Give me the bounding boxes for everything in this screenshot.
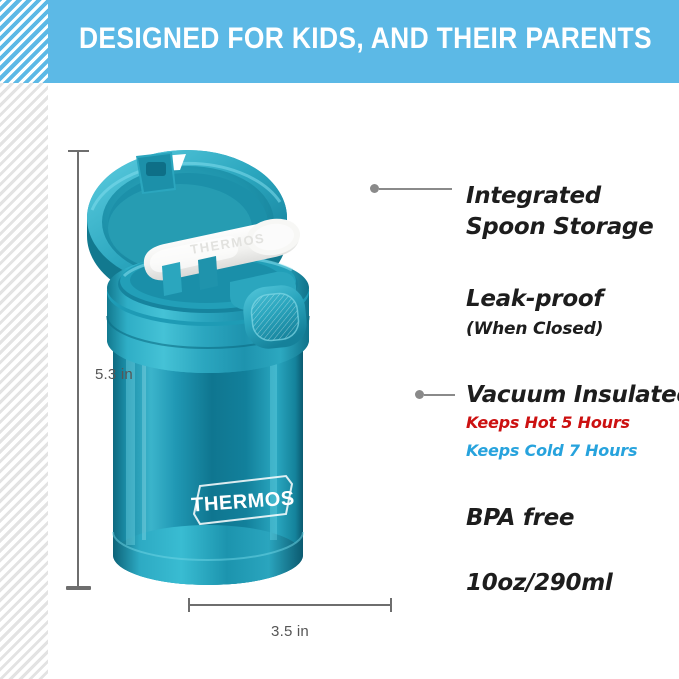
feature-leak-proof-line2: (When Closed) [466,319,603,339]
height-dimension-label: 5.3 in [95,366,133,383]
feature-vacuum-insulated-line1: Vacuum Insulated [466,382,679,408]
jar-body [113,336,303,585]
leader-dot-spoon-storage [370,184,379,193]
height-dimension-line [77,150,79,588]
feature-keeps-hot: Keeps Hot 5 Hours [466,413,630,432]
decorative-stripe-band [0,0,48,679]
leader-line-spoon-storage [379,188,452,190]
feature-spoon-storage-line1: Integrated [466,183,601,209]
feature-spoon-storage-line2: Spoon Storage [466,214,653,240]
width-dimension-cap-left [188,598,190,612]
feature-capacity: 10oz/290ml [466,570,612,596]
leader-dot-vacuum-insulated [415,390,424,399]
infographic-page: DESIGNED FOR KIDS, AND THEIR PARENTS [0,0,679,679]
leader-line-vacuum-insulated [424,394,455,396]
feature-keeps-cold: Keeps Cold 7 Hours [466,441,637,460]
height-dimension-cap-top [68,150,89,152]
lid-tab [136,152,176,194]
stripe-pattern-body [0,0,48,679]
width-dimension-label: 3.5 in [188,623,392,640]
page-title: DESIGNED FOR KIDS, AND THEIR PARENTS [79,22,652,56]
height-dimension-cap-bottom [66,586,91,590]
feature-bpa-free: BPA free [466,505,574,531]
feature-leak-proof-line1: Leak-proof [466,286,603,312]
header-banner: DESIGNED FOR KIDS, AND THEIR PARENTS [48,0,679,83]
width-dimension-cap-right [390,598,392,612]
stripe-pattern-header [0,0,48,83]
width-dimension-line [188,604,392,606]
